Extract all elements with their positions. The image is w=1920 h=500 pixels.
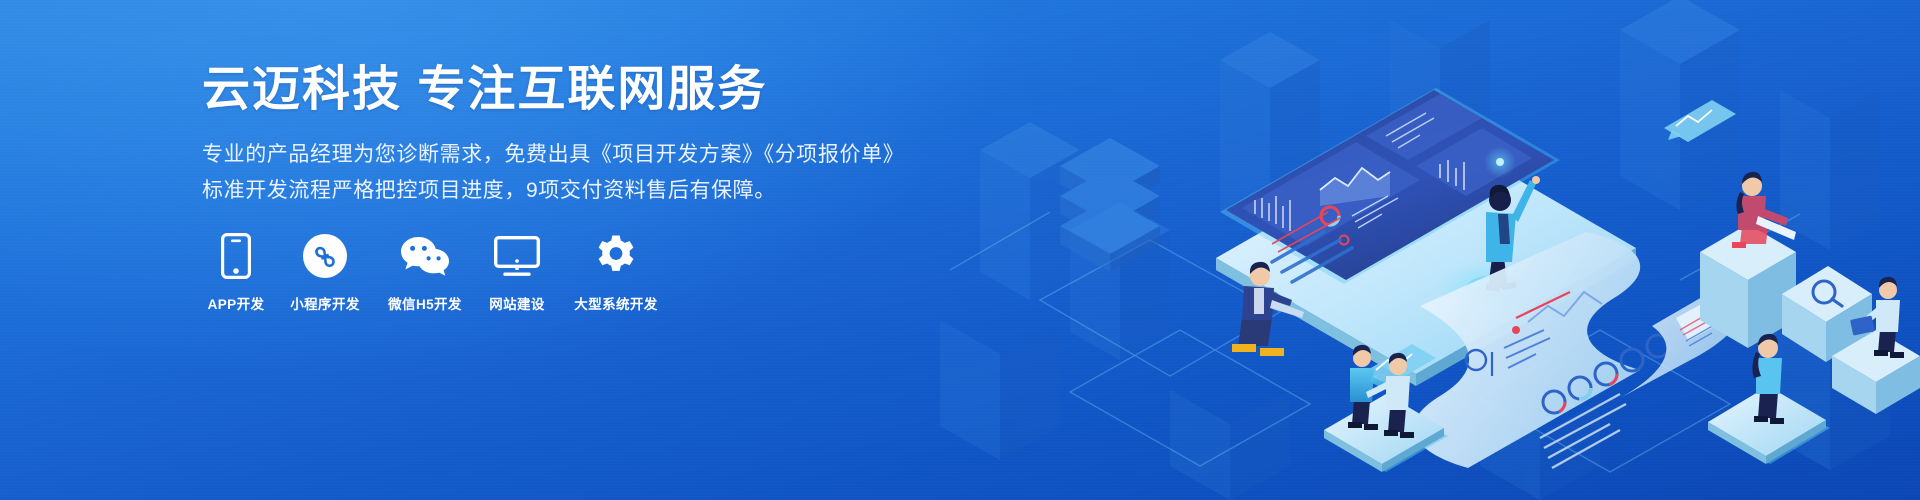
server-stack <box>1060 138 1160 272</box>
service-list: APP开发 小程序开发 <box>204 232 666 313</box>
hero-banner: 云迈科技 专注互联网服务 专业的产品经理为您诊断需求，免费出具《项目开发方案》《… <box>0 0 1920 500</box>
monitor-icon <box>494 232 540 280</box>
service-item-app[interactable]: APP开发 <box>204 232 268 313</box>
isometric-illustration <box>920 0 1920 500</box>
subtitle-line-1: 专业的产品经理为您诊断需求，免费出具《项目开发方案》《分项报价单》 <box>202 137 902 173</box>
page-title: 云迈科技 专注互联网服务 <box>202 62 902 119</box>
service-label: APP开发 <box>208 293 265 313</box>
service-label: 小程序开发 <box>290 293 360 313</box>
service-item-miniprogram[interactable]: 小程序开发 <box>282 232 368 313</box>
service-item-wechat-h5[interactable]: 微信H5开发 <box>382 232 468 313</box>
wechat-icon <box>400 232 450 280</box>
gear-icon <box>594 232 638 280</box>
service-label: 大型系统开发 <box>574 293 657 313</box>
mobile-phone-icon <box>221 232 251 280</box>
service-item-large-system[interactable]: 大型系统开发 <box>566 232 666 313</box>
service-item-website[interactable]: 网站建设 <box>482 232 552 313</box>
service-label: 微信H5开发 <box>388 293 462 313</box>
mini-program-icon <box>303 232 347 280</box>
hero-content: 云迈科技 专注互联网服务 专业的产品经理为您诊断需求，免费出具《项目开发方案》《… <box>202 62 902 209</box>
service-label: 网站建设 <box>489 293 545 313</box>
subtitle-line-2: 标准开发流程严格把控项目进度，9项交付资料售后有保障。 <box>202 173 902 209</box>
